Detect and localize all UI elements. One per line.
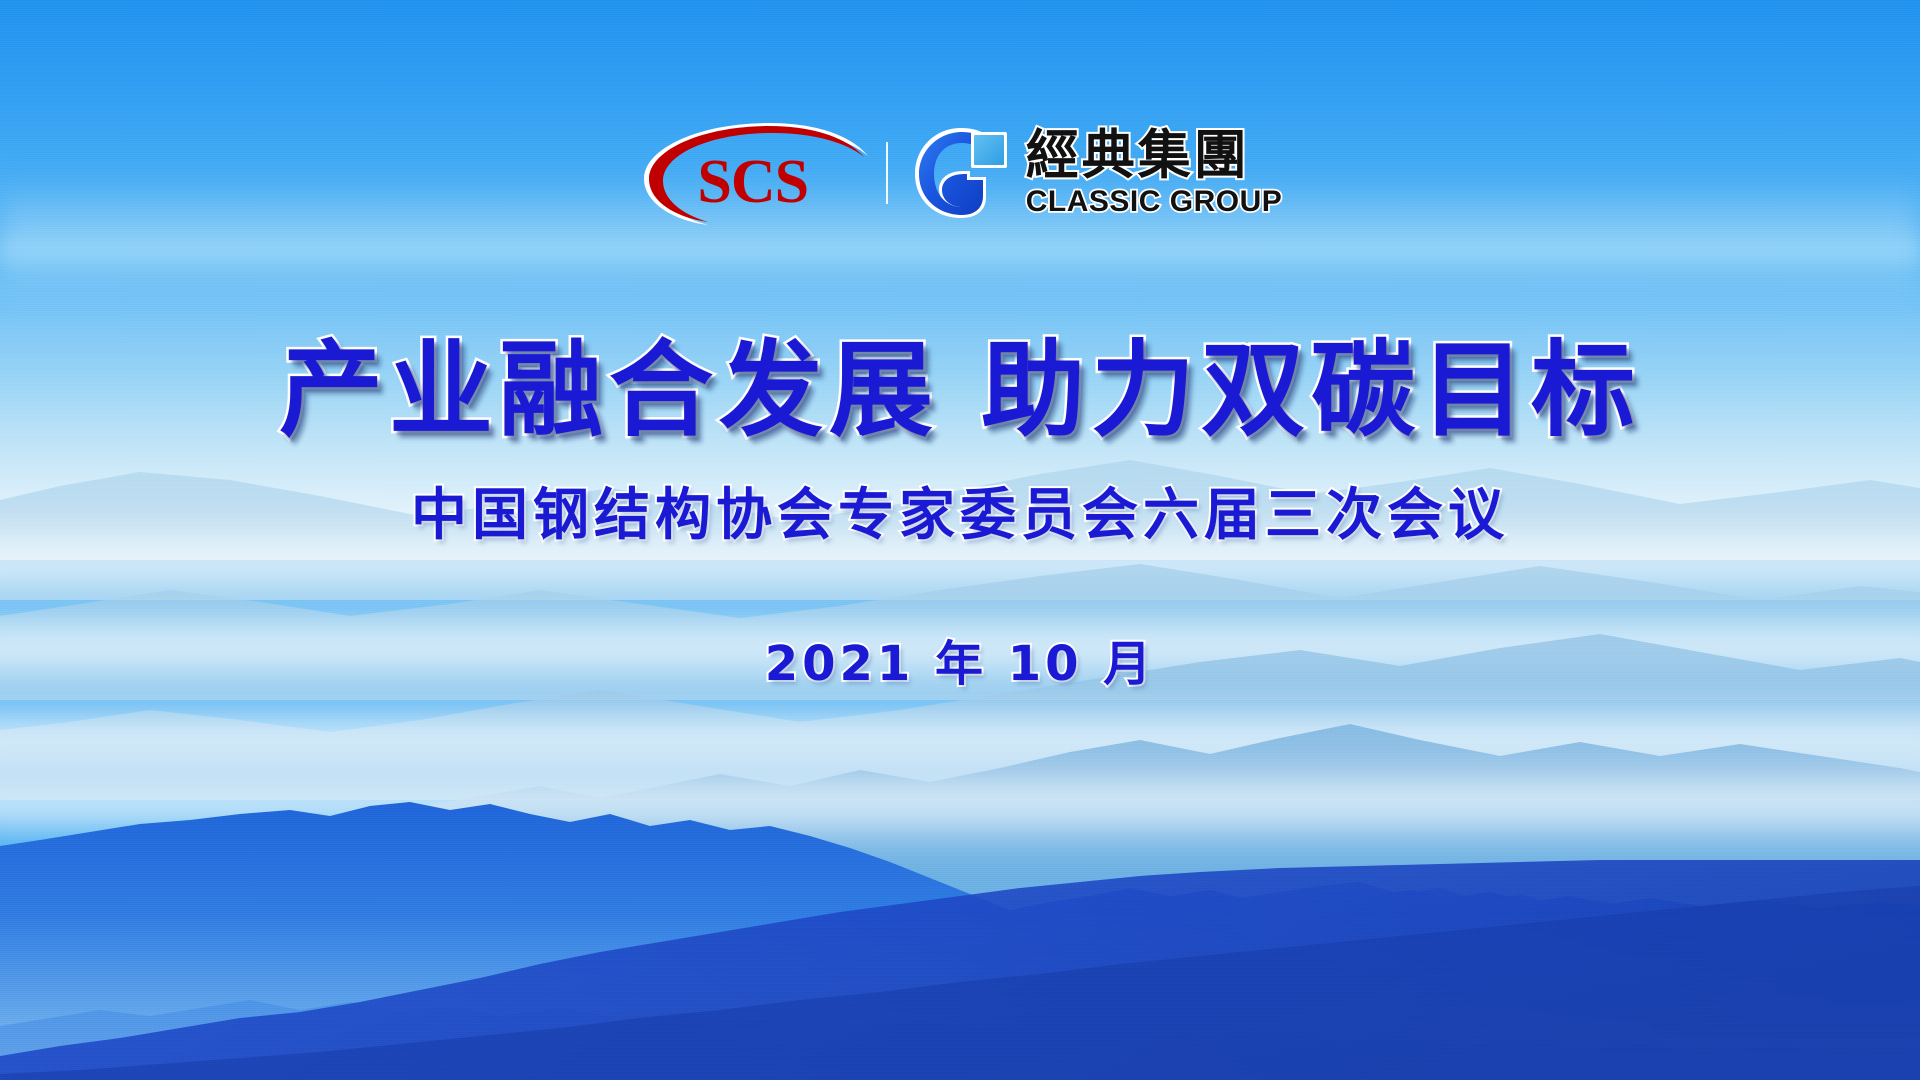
logo-bar: SCS bbox=[0, 118, 1920, 228]
scs-wordmark: SCS bbox=[638, 151, 868, 213]
poster-headline: 产业融合发展助力双碳目标 bbox=[0, 338, 1920, 442]
poster-subtitle: 中国钢结构协会专家委员会六届三次会议 bbox=[0, 488, 1920, 544]
classic-group-chinese-name: 經典集團 bbox=[1026, 129, 1283, 182]
scs-logo[interactable]: SCS bbox=[638, 121, 868, 225]
sky-haze-band-thin bbox=[0, 230, 1920, 270]
poster-date: 2021 年 10 月 bbox=[0, 640, 1920, 688]
logo-divider bbox=[886, 142, 888, 204]
headline-part-1: 产业融合发展 bbox=[279, 329, 939, 451]
headline-part-2: 助力双碳目标 bbox=[981, 329, 1641, 451]
classic-group-c-square-icon bbox=[914, 127, 1010, 219]
classic-group-logo[interactable]: 經典集團 CLASSIC GROUP bbox=[914, 127, 1283, 219]
mountain-layer-foreground bbox=[0, 860, 1920, 1080]
poster-canvas: SCS bbox=[0, 0, 1920, 1080]
classic-group-english-name: CLASSIC GROUP bbox=[1026, 187, 1283, 217]
